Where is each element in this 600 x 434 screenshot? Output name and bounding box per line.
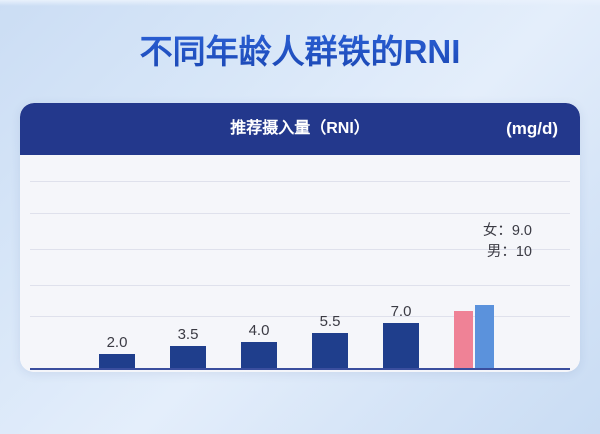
- bar-1-value-label: 3.5: [163, 326, 213, 343]
- bar-male: [475, 305, 494, 368]
- bar-1: [170, 346, 206, 368]
- page-title: 不同年龄人群铁的RNI: [0, 32, 600, 72]
- bar-2: [241, 342, 277, 368]
- poster-root: 不同年龄人群铁的RNI 推荐摄入量（RNI） (mg/d) 2.03.54.05…: [0, 0, 600, 434]
- bar-0: [99, 354, 135, 368]
- card-header-unit: (mg/d): [506, 103, 558, 155]
- annotation-line-1: 男：10: [483, 242, 532, 263]
- bar-female: [454, 311, 473, 368]
- bar-3-value-label: 5.5: [305, 313, 355, 330]
- annotation-line-0: 女：9.0: [483, 221, 532, 242]
- bar-4: [383, 323, 419, 368]
- card-header: 推荐摄入量（RNI） (mg/d): [20, 103, 580, 155]
- chart-bars: 2.03.54.05.57.0: [20, 155, 580, 372]
- chart-plot-area: 2.03.54.05.57.0 女：9.0男：10: [20, 155, 580, 372]
- gender-annotation: 女：9.0男：10: [483, 221, 532, 263]
- bar-2-value-label: 4.0: [234, 322, 284, 339]
- bar-4-value-label: 7.0: [376, 303, 426, 320]
- card-header-title: 推荐摄入量（RNI）: [20, 103, 580, 155]
- bar-0-value-label: 2.0: [92, 334, 142, 351]
- chart-card: 推荐摄入量（RNI） (mg/d) 2.03.54.05.57.0 女：9.0男…: [20, 103, 580, 372]
- bar-3: [312, 333, 348, 368]
